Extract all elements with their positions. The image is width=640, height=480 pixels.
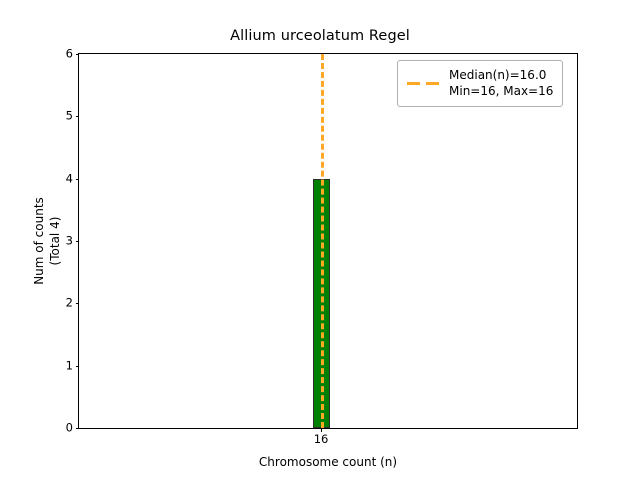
ytick-label-6: 6: [66, 48, 73, 60]
ytick-label-5: 5: [66, 111, 73, 123]
median-line: [321, 54, 324, 428]
ytick-label-1: 1: [66, 360, 73, 372]
dashed-line-icon: [407, 77, 441, 89]
ytick-label-0: 0: [66, 422, 73, 434]
matplotlib-figure: Allium urceolatum Regel 0 1 2 3 4 5 6 16…: [0, 0, 640, 480]
y-axis-label: Num of counts (Total 4): [30, 53, 64, 429]
plot-area: 0 1 2 3 4 5 6 16: [78, 53, 578, 429]
legend-line-2: Min=16, Max=16: [449, 83, 553, 99]
x-axis-label: Chromosome count (n): [78, 455, 578, 469]
legend-entry-text: Median(n)=16.0 Min=16, Max=16: [449, 67, 553, 99]
legend-entry-median: Median(n)=16.0 Min=16, Max=16: [407, 67, 553, 99]
plot-inner: [79, 54, 577, 428]
xtick-label-16: 16: [314, 434, 329, 446]
chart-title: Allium urceolatum Regel: [0, 28, 640, 44]
legend-line-1: Median(n)=16.0: [449, 68, 546, 82]
ytick-label-3: 3: [66, 235, 73, 247]
ytick-label-2: 2: [66, 298, 73, 310]
xtick-mark-16: [321, 428, 322, 432]
ytick-mark-0: [76, 428, 80, 429]
ytick-label-4: 4: [66, 173, 73, 185]
legend: Median(n)=16.0 Min=16, Max=16: [397, 60, 563, 107]
